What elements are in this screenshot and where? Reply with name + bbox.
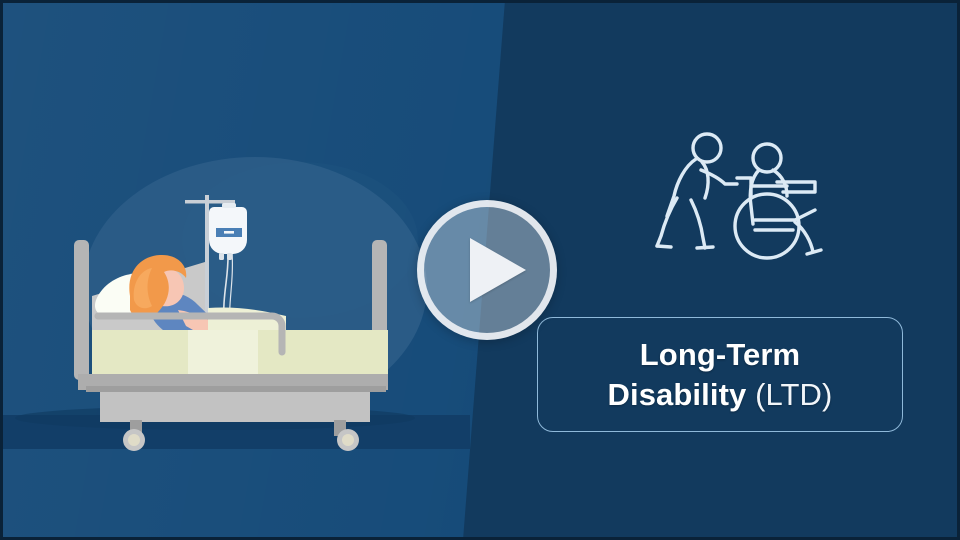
bed-base-edge bbox=[86, 386, 386, 392]
title-line-1: Long-Term bbox=[640, 335, 800, 375]
bed-headboard-post bbox=[74, 240, 89, 380]
video-player-frame: Long-Term Disability (LTD) bbox=[0, 0, 960, 540]
blanket-sheen bbox=[188, 330, 258, 380]
person-pushing-wheelchair-icon bbox=[655, 126, 835, 271]
title-line-2: Disability (LTD) bbox=[608, 375, 833, 415]
title-line-2-text: Disability bbox=[608, 377, 747, 412]
title-line-1-text: Long-Term bbox=[640, 337, 800, 372]
bed-base-block bbox=[100, 390, 370, 422]
title-callout-box: Long-Term Disability (LTD) bbox=[537, 317, 903, 432]
play-button[interactable] bbox=[417, 200, 557, 340]
title-abbreviation: (LTD) bbox=[755, 377, 832, 412]
hospital-bed-illustration bbox=[0, 0, 470, 540]
play-triangle-icon bbox=[470, 238, 526, 302]
